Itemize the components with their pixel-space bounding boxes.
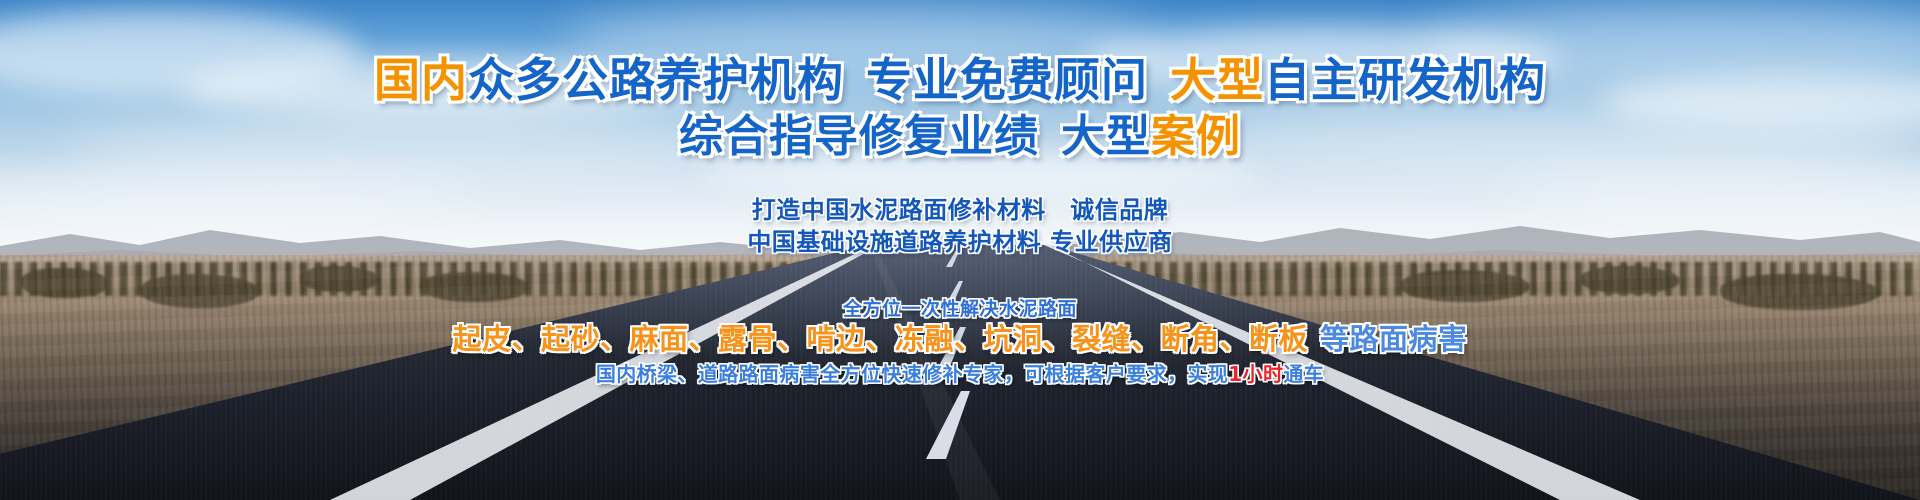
headline1-seg-2: 专业 (866, 53, 960, 107)
headline2-seg-2: 案例 (1151, 111, 1241, 162)
headline1-seg-1: 众多公路养护机构 (468, 53, 844, 107)
defects-list: 起皮、起砂、麻面、露骨、啃边、冻融、坑洞、裂缝、断角、断板 (452, 322, 1308, 356)
bottom-closing-line: 国内桥梁、道路路面病害全方位快速修补专家，可根据客户要求，实现1小时通车 (0, 358, 1920, 387)
headline1-seg-3: 免费顾问 (960, 53, 1148, 107)
closing-highlight-text: 1小时 (1228, 362, 1283, 386)
tagline-line-2: 中国基础设施道路养护材料 专业供应商 (0, 222, 1920, 257)
headline2-seg-1: 大型 (1061, 111, 1151, 162)
closing-post-text: 通车 (1283, 362, 1324, 386)
promotional-banner: 国内众多公路养护机构专业免费顾问大型自主研发机构 综合指导修复业绩大型案例 打造… (0, 0, 1920, 500)
headline-line-2: 综合指导修复业绩大型案例 (0, 100, 1920, 164)
closing-pre-text: 国内桥梁、道路路面病害全方位快速修补专家，可根据客户要求，实现 (596, 362, 1228, 386)
headline2-seg-0: 综合指导修复业绩 (679, 111, 1039, 162)
headline1-seg-4: 大型 (1170, 53, 1264, 107)
banner-text-layer: 国内众多公路养护机构专业免费顾问大型自主研发机构 综合指导修复业绩大型案例 打造… (0, 0, 1920, 500)
headline1-seg-0: 国内 (374, 53, 468, 107)
tagline-line-1: 打造中国水泥路面修补材料 诚信品牌 (0, 190, 1920, 225)
headline1-seg-5: 自主研发机构 (1264, 53, 1546, 107)
bottom-defects-line: 起皮、起砂、麻面、露骨、啃边、冻融、坑洞、裂缝、断角、断板等路面病害 (0, 316, 1920, 358)
defects-suffix: 等路面病害 (1320, 322, 1468, 356)
